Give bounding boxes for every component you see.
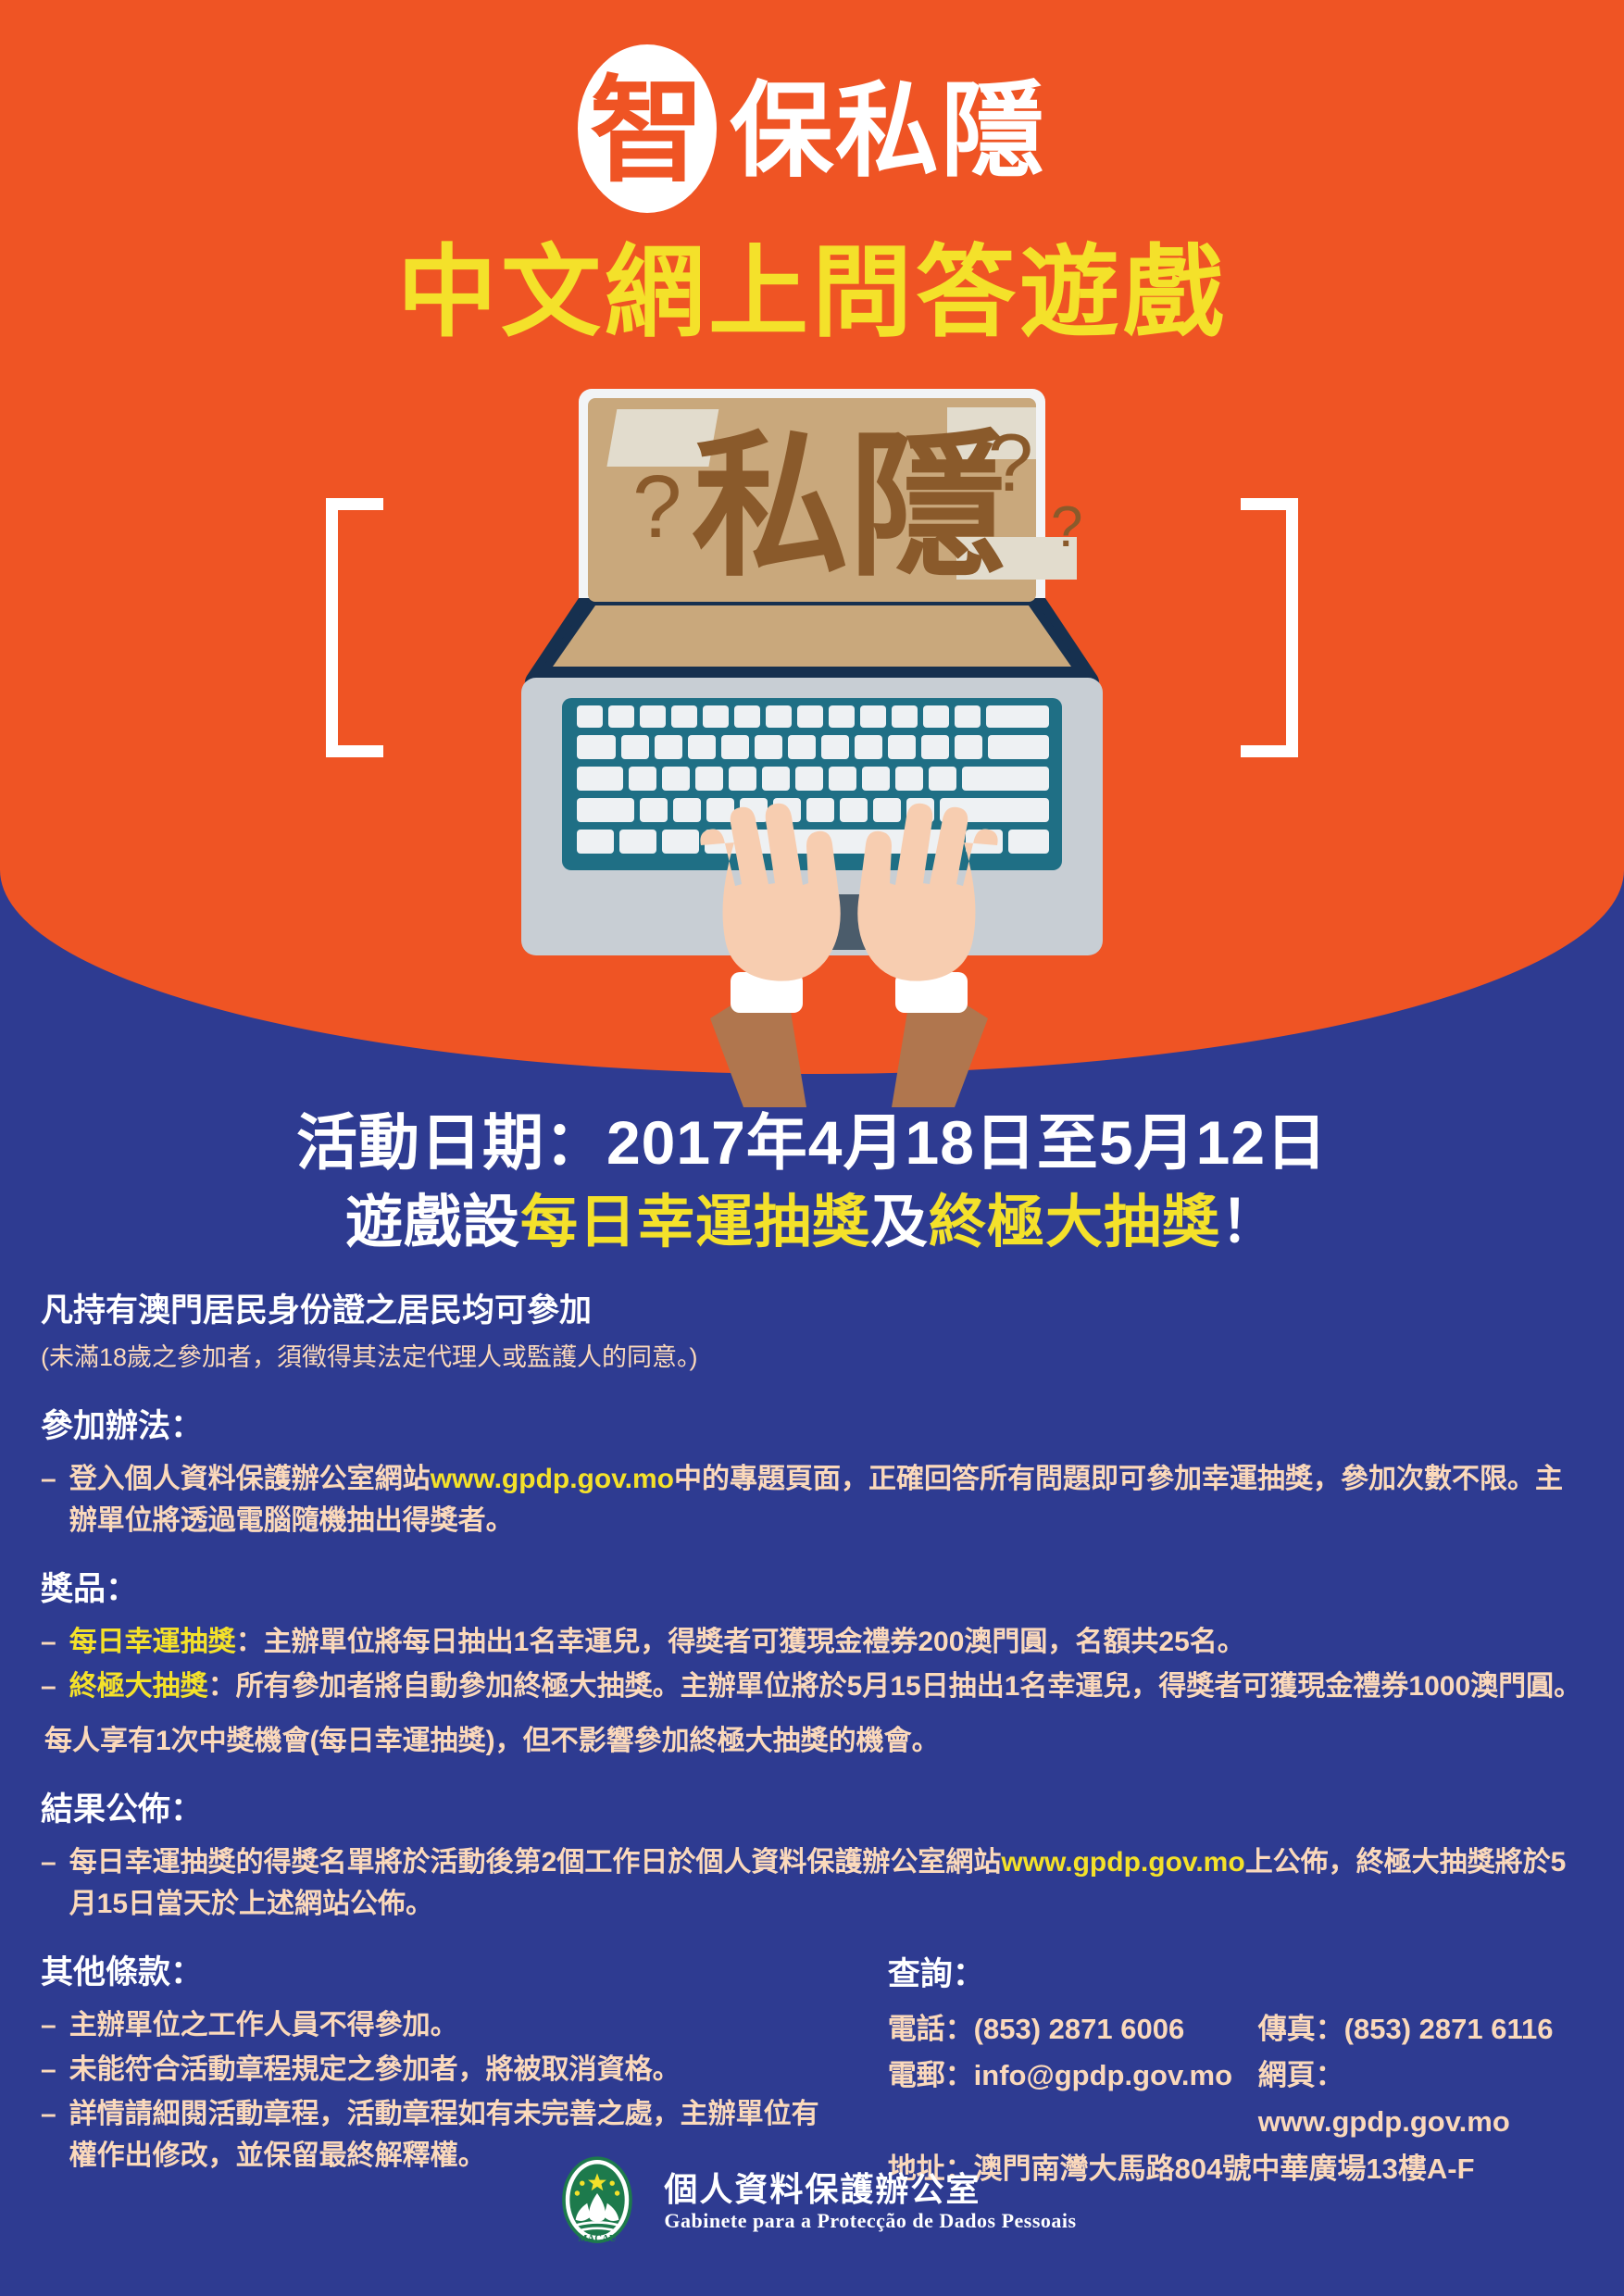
other-term-1: 主辦單位之工作人員不得參加。 [69, 2004, 832, 2046]
footer-org-name-pt: Gabinete para a Protecção de Dados Pesso… [664, 2209, 1076, 2233]
results-website-url-link[interactable]: www.gpdp.gov.mo [1001, 1847, 1244, 1878]
contact-row: 電話：(853) 2871 6006 傳真：(853) 2871 6116 [888, 2006, 1587, 2053]
section-title-inquiry: 查詢： [888, 1951, 1587, 1998]
prize-grand-detail: ：所有參加者將自動參加終極大抽獎。主辦單位將於5月15日抽出1名幸運兒，得獎者可… [208, 1671, 1581, 1702]
eligibility-statement: 凡持有澳門居民身份證之居民均可參加 [41, 1287, 1587, 1334]
body-content: 凡持有澳門居民身份證之居民均可參加 (未滿18歲之參加者，須徵得其法定代理人或監… [41, 1287, 1587, 2192]
bullet-dash: – [41, 2004, 56, 2046]
bullet-item: – 終極大抽獎：所有參加者將自動參加終極大抽獎。主辦單位將於5月15日抽出1名幸… [41, 1666, 1587, 1707]
prize-daily-label: 每日幸運抽獎 [69, 1627, 236, 1657]
prize-note: 每人享有1次中獎機會(每日幸運抽獎)，但不影響參加終極大抽獎的機會。 [44, 1720, 1587, 1762]
bracket-left-decoration [326, 498, 383, 757]
contact-row: 電郵：info@gpdp.gov.mo 網頁：www.gpdp.gov.mo [888, 2053, 1587, 2145]
page-title: 中文網上問答遊戲 [0, 239, 1624, 347]
logo-mark-glyph: 智 [590, 74, 705, 189]
bullet-text: 每日幸運抽獎的得獎名單將於活動後第2個工作日於個人資料保護辦公室網站www.gp… [69, 1841, 1587, 1925]
prize-intro-part2: 及 [870, 1191, 929, 1254]
section-title-other-terms: 其他條款： [41, 1949, 832, 1996]
eligibility-note: (未滿18歲之參加者，須徵得其法定代理人或監護人的同意。) [41, 1340, 1587, 1376]
prize-intro-part3: ！ [1220, 1191, 1279, 1254]
screen-question-mark-1: ? [632, 457, 681, 556]
bullet-item: – 每日幸運抽獎的得獎名單將於活動後第2個工作日於個人資料保護辦公室網站www.… [41, 1841, 1587, 1925]
laptop-illustration: ? 私隱 ? ? [432, 380, 1192, 1111]
results-pre: 每日幸運抽獎的得獎名單將於活動後第2個工作日於個人資料保護辦公室網站 [69, 1847, 1002, 1878]
bullet-pre: 登入個人資料保護辦公室網站 [69, 1464, 431, 1494]
headline-block: 活動日期：2017年4月18日至5月12日 遊戲設每日幸運抽獎及終極大抽獎！ [0, 1106, 1624, 1266]
contact-fax: 傳真：(853) 2871 6116 [1258, 2006, 1587, 2053]
section-title-prizes: 獎品： [41, 1566, 1587, 1613]
logo-badge-icon: 智 [578, 44, 717, 213]
section-results: 結果公佈： – 每日幸運抽獎的得獎名單將於活動後第2個工作日於個人資料保護辦公室… [41, 1786, 1587, 1925]
prize-intro-highlight2: 終極大抽獎 [929, 1191, 1220, 1254]
bullet-dash: – [41, 1458, 56, 1541]
logo-wordmark: 保私隱 [730, 80, 1046, 183]
footer-org-names: 個人資料保護辦公室 Gabinete para a Protecção de D… [664, 2170, 1076, 2233]
screen-question-mark-3: ? [1051, 495, 1082, 559]
bullet-dash: – [41, 1666, 56, 1707]
emblem-label: MACAU [579, 2233, 618, 2244]
bullet-text: 終極大抽獎：所有參加者將自動參加終極大抽獎。主辦單位將於5月15日抽出1名幸運兒… [69, 1666, 1587, 1707]
section-prizes: 獎品： – 每日幸運抽獎：主辦單位將每日抽出1名幸運兒，得獎者可獲現金禮券200… [41, 1566, 1587, 1762]
macau-emblem-icon: MACAU [547, 2152, 647, 2252]
prize-grand-label: 終極大抽獎 [69, 1671, 208, 1702]
bullet-item: – 每日幸運抽獎：主辦單位將每日抽出1名幸運兒，得獎者可獲現金禮券200澳門圓，… [41, 1621, 1587, 1663]
event-date-line: 活動日期：2017年4月18日至5月12日 [0, 1106, 1624, 1179]
laptop-screen: ? 私隱 ? ? [538, 398, 1086, 674]
bullet-item: – 登入個人資料保護辦公室網站www.gpdp.gov.mo中的專題頁面，正確回… [41, 1458, 1587, 1541]
bullet-text: 登入個人資料保護辦公室網站www.gpdp.gov.mo中的專題頁面，正確回答所… [69, 1458, 1587, 1541]
section-title-results: 結果公佈： [41, 1786, 1587, 1833]
website-url-link[interactable]: www.gpdp.gov.mo [431, 1464, 674, 1494]
bullet-item: – 未能符合活動章程規定之參加者，將被取消資格。 [41, 2049, 832, 2090]
section-title-how-to-join: 參加辦法： [41, 1403, 1587, 1450]
contact-email[interactable]: 電郵：info@gpdp.gov.mo [888, 2053, 1258, 2145]
footer-org-name-cn: 個人資料保護辦公室 [664, 2170, 1076, 2209]
contact-website[interactable]: 網頁：www.gpdp.gov.mo [1258, 2053, 1587, 2145]
bullet-item: – 主辦單位之工作人員不得參加。 [41, 2004, 832, 2046]
section-how-to-join: 參加辦法： – 登入個人資料保護辦公室網站www.gpdp.gov.mo中的專題… [41, 1403, 1587, 1541]
bullet-dash: – [41, 1841, 56, 1925]
bracket-right-decoration [1241, 498, 1298, 757]
bullet-text: 每日幸運抽獎：主辦單位將每日抽出1名幸運兒，得獎者可獲現金禮券200澳門圓，名額… [69, 1621, 1587, 1663]
bullet-dash: – [41, 2049, 56, 2090]
contact-phone: 電話：(853) 2871 6006 [888, 2006, 1258, 2053]
prize-intro-part1: 遊戲設 [345, 1191, 520, 1254]
prize-intro-line: 遊戲設每日幸運抽獎及終極大抽獎！ [0, 1179, 1624, 1266]
prize-intro-highlight1: 每日幸運抽獎 [520, 1191, 870, 1254]
other-term-2: 未能符合活動章程規定之參加者，將被取消資格。 [69, 2049, 832, 2090]
footer: MACAU 個人資料保護辦公室 Gabinete para a Protecçã… [0, 2152, 1624, 2252]
bullet-dash: – [41, 1621, 56, 1663]
prize-daily-detail: ：主辦單位將每日抽出1名幸運兒，得獎者可獲現金禮券200澳門圓，名額共25名。 [236, 1627, 1245, 1657]
brand-logo: 智 保私隱 [0, 44, 1624, 213]
screen-privacy-text: 私隱 [692, 416, 1006, 599]
screen-question-mark-2: ? [988, 417, 1033, 508]
